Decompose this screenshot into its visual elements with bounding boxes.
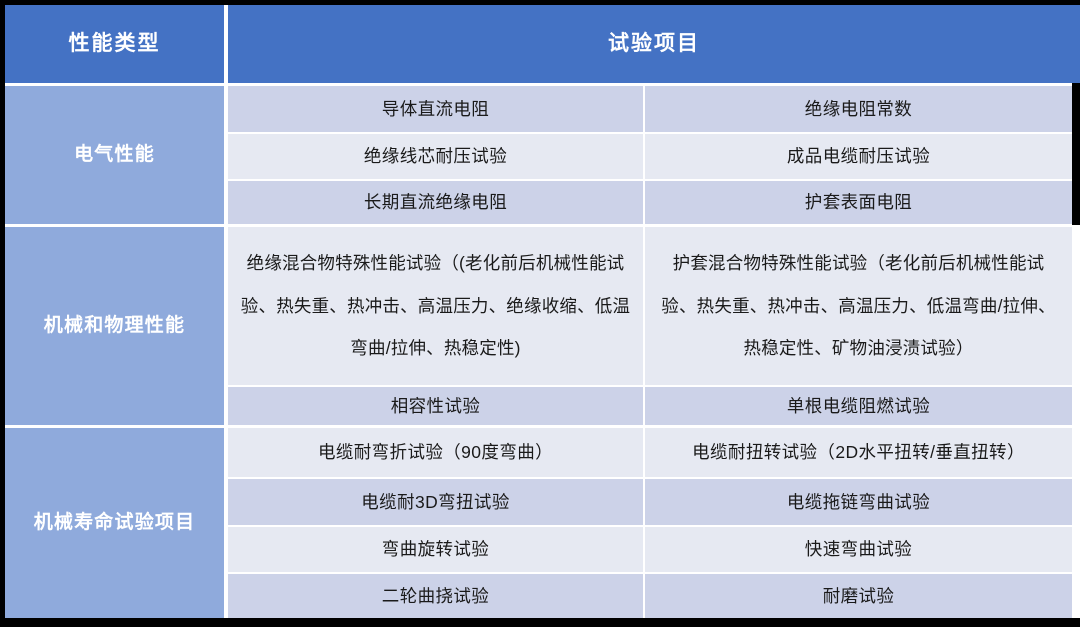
- category-label-mechanical-life: 机械寿命试验项目: [34, 504, 196, 541]
- table-cell: 电缆耐弯折试验（90度弯曲）: [228, 428, 643, 477]
- category-label-mechanical-physical: 机械和物理性能: [44, 307, 185, 344]
- table-cell: 单根电缆阻燃试验: [645, 387, 1072, 425]
- table-cell: 护套表面电阻: [645, 181, 1072, 224]
- cell-text: 长期直流绝缘电阻: [364, 185, 507, 219]
- cell-text: 二轮曲挠试验: [382, 579, 489, 613]
- header-label-test-items: 试验项目: [608, 24, 700, 65]
- cell-text: 电缆耐扭转试验（2D水平扭转/垂直扭转）: [692, 435, 1025, 469]
- header-label-performance-type: 性能类型: [69, 24, 161, 65]
- cell-text: 相容性试验: [391, 389, 481, 423]
- category-cell-mechanical-life: 机械寿命试验项目: [5, 428, 224, 618]
- table-cell: 电缆拖链弯曲试验: [645, 479, 1072, 525]
- table-cell: 绝缘混合物特殊性能试验（(老化前后机械性能试验、热失重、热冲击、高温压力、绝缘收…: [228, 227, 643, 385]
- cell-text: 绝缘电阻常数: [805, 92, 912, 126]
- table-cell: 护套混合物特殊性能试验（老化前后机械性能试验、热失重、热冲击、高温压力、低温弯曲…: [645, 227, 1072, 385]
- table-cell: 电缆耐3D弯扭试验: [228, 479, 643, 525]
- table-cell: 二轮曲挠试验: [228, 574, 643, 618]
- cell-text: 绝缘线芯耐压试验: [364, 139, 507, 173]
- cell-text: 导体直流电阻: [382, 92, 489, 126]
- table-cell: 长期直流绝缘电阻: [228, 181, 643, 224]
- background-strip-bottom: [0, 618, 1080, 627]
- cell-text: 电缆耐3D弯扭试验: [361, 485, 509, 519]
- cell-text: 单根电缆阻燃试验: [787, 389, 930, 423]
- category-cell-mechanical-physical: 机械和物理性能: [5, 227, 224, 425]
- header-cell-test-items: 试验项目: [228, 5, 1080, 83]
- cell-text: 快速弯曲试验: [805, 532, 912, 566]
- table-cell: 绝缘电阻常数: [645, 86, 1072, 132]
- cell-text: 电缆拖链弯曲试验: [787, 485, 930, 519]
- table-cell: 弯曲旋转试验: [228, 527, 643, 572]
- cell-text: 成品电缆耐压试验: [787, 139, 930, 173]
- cell-text: 护套混合物特殊性能试验（老化前后机械性能试验、热失重、热冲击、高温压力、低温弯曲…: [655, 242, 1062, 371]
- cell-text: 耐磨试验: [823, 579, 895, 613]
- cell-text: 电缆耐弯折试验（90度弯曲）: [318, 435, 553, 469]
- category-label-electrical: 电气性能: [74, 136, 155, 173]
- header-cell-performance-type: 性能类型: [5, 5, 224, 83]
- table-cell: 耐磨试验: [645, 574, 1072, 618]
- table-cell: 导体直流电阻: [228, 86, 643, 132]
- table-cell: 相容性试验: [228, 387, 643, 425]
- cell-text: 绝缘混合物特殊性能试验（(老化前后机械性能试验、热失重、热冲击、高温压力、绝缘收…: [238, 242, 633, 371]
- cell-text: 护套表面电阻: [805, 185, 912, 219]
- cell-text: 弯曲旋转试验: [382, 532, 489, 566]
- table-cell: 快速弯曲试验: [645, 527, 1072, 572]
- table-cell: 电缆耐扭转试验（2D水平扭转/垂直扭转）: [645, 428, 1072, 477]
- table-cell: 绝缘线芯耐压试验: [228, 134, 643, 179]
- category-cell-electrical: 电气性能: [5, 86, 224, 224]
- background-strip-right: [1072, 83, 1080, 225]
- performance-test-table: 性能类型 试验项目 电气性能 导体直流电阻 绝缘电阻常数 绝缘线芯耐压试验 成品…: [0, 0, 1080, 627]
- table-cell: 成品电缆耐压试验: [645, 134, 1072, 179]
